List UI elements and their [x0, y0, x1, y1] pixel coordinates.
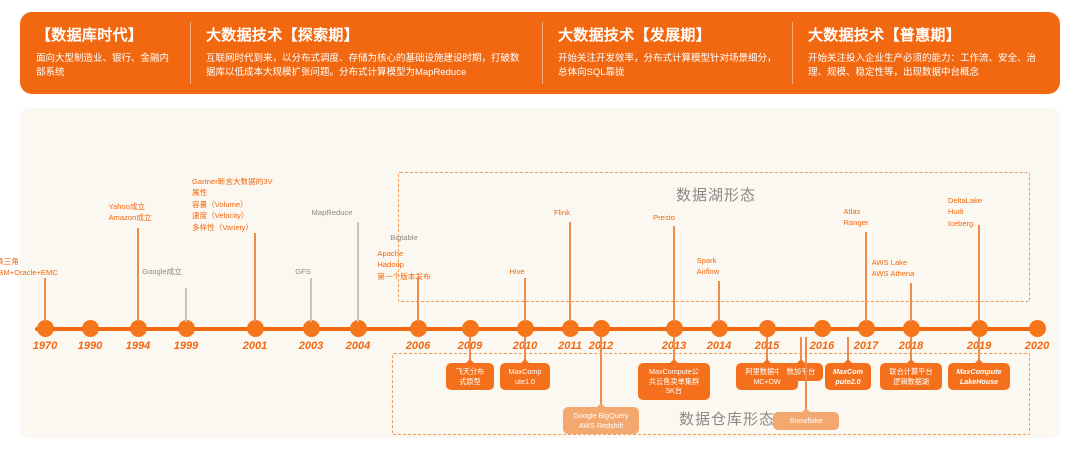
region-title-data-warehouse: 数据仓库形态	[679, 408, 775, 429]
event-stem	[137, 228, 138, 322]
timeline-node-2009[interactable]	[462, 320, 479, 337]
top-event-label: Yahoo成立Amazon成立	[108, 201, 151, 224]
timeline-node-2017[interactable]	[858, 320, 875, 337]
milestone-chip[interactable]: 飞天分布式原型	[446, 363, 494, 390]
year-label-1990: 1990	[78, 340, 102, 352]
year-label-2003: 2003	[299, 340, 323, 352]
milestone-chip[interactable]: 数加平台	[779, 363, 823, 381]
event-stem	[978, 225, 979, 322]
event-stem	[357, 222, 358, 322]
chip-tail-icon	[521, 359, 529, 363]
chip-tail-icon	[670, 359, 678, 363]
chip-line: MaxCompute公	[642, 367, 706, 377]
timeline-node-1994[interactable]	[130, 320, 147, 337]
year-label-2011: 2011	[558, 340, 582, 352]
phase-section-inclusive: 大数据技术【普惠期】 开始关注投入企业生产必须的能力：工作流、安全、治理、规模、…	[792, 12, 1060, 94]
timeline-node-2014[interactable]	[711, 320, 728, 337]
chip-line: Snowflake	[777, 416, 835, 426]
top-event-label: Flink	[554, 207, 570, 218]
timeline-node-2010[interactable]	[517, 320, 534, 337]
event-line: Hadoop	[377, 259, 430, 270]
top-event-label: MapReduce	[312, 207, 353, 218]
event-line: Presto	[653, 212, 675, 223]
milestone-chip[interactable]: MaxComputeLakeHouse	[948, 363, 1010, 390]
year-label-2014: 2014	[707, 340, 731, 352]
top-event-label: 铁三角IBM+Oracle+EMC	[0, 256, 58, 279]
event-line: MapReduce	[312, 207, 353, 218]
event-line: Spark	[697, 255, 720, 266]
year-label-1994: 1994	[126, 340, 150, 352]
phase-section-database-era: 【数据库时代】 面向大型制造业、银行、金融内部系统	[20, 12, 190, 94]
event-line: IBM+Oracle+EMC	[0, 267, 58, 278]
timeline-node-2012[interactable]	[593, 320, 610, 337]
top-event-label: SparkAirflow	[697, 255, 720, 278]
event-line: AWS Athena	[872, 268, 915, 279]
event-stem	[569, 222, 570, 322]
year-label-2017: 2017	[854, 340, 878, 352]
milestone-chip[interactable]: MaxCompute1.0	[500, 363, 550, 390]
event-stem	[865, 232, 866, 322]
chip-line: 5K台	[642, 386, 706, 396]
phase-title: 大数据技术【发展期】	[558, 24, 778, 45]
year-label-2006: 2006	[406, 340, 430, 352]
top-event-label: AtlasRanger	[844, 206, 869, 229]
event-line: AWS Lake	[872, 257, 915, 268]
event-stem	[718, 281, 719, 322]
top-event-label: Gartner断言大数据的3V属性容量（Volume）速度（Velocity）多…	[192, 176, 278, 233]
event-stem	[910, 283, 911, 322]
phase-title: 【数据库时代】	[36, 24, 176, 45]
event-line: Ranger	[844, 217, 869, 228]
year-label-2020: 2020	[1025, 340, 1049, 352]
year-label-2001: 2001	[243, 340, 267, 352]
timeline-node-2011[interactable]	[562, 320, 579, 337]
chip-tail-icon	[466, 359, 474, 363]
chip-tail-icon	[797, 359, 805, 363]
event-line: Iceberg	[948, 218, 982, 229]
timeline-node-2003[interactable]	[303, 320, 320, 337]
timeline-node-2015[interactable]	[759, 320, 776, 337]
phase-description: 互联网时代到来，以分布式调度、存储为核心的基础设施建设时期，打破数据库以低成本大…	[206, 52, 528, 80]
top-event-label: GFS	[295, 266, 311, 277]
year-label-2016: 2016	[810, 340, 834, 352]
chip-line: 飞天分布	[450, 367, 490, 377]
chip-tail-icon	[844, 359, 852, 363]
phase-description: 面向大型制造业、银行、金融内部系统	[36, 52, 176, 80]
event-line: Hudi	[948, 206, 982, 217]
timeline-node-1970[interactable]	[37, 320, 54, 337]
timeline-node-1999[interactable]	[178, 320, 195, 337]
chip-line: 共云售卖单集群	[642, 377, 706, 387]
event-line: Flink	[554, 207, 570, 218]
top-event-label: Hive	[509, 266, 524, 277]
timeline-node-2018[interactable]	[903, 320, 920, 337]
top-event-label: Presto	[653, 212, 675, 223]
event-line: DeltaLake	[948, 195, 982, 206]
infographic-root: 【数据库时代】 面向大型制造业、银行、金融内部系统 大数据技术【探索期】 互联网…	[0, 0, 1080, 454]
chip-line: MaxCom	[829, 367, 867, 377]
event-stem	[673, 226, 674, 322]
top-event-label: DeltaLakeHudiIceberg	[948, 195, 982, 229]
event-line: Airflow	[697, 266, 720, 277]
timeline-node-2016[interactable]	[814, 320, 831, 337]
timeline-node-2004[interactable]	[350, 320, 367, 337]
region-title-data-lake: 数据湖形态	[676, 184, 756, 205]
event-line: Amazon成立	[108, 212, 151, 223]
timeline-node-2013[interactable]	[666, 320, 683, 337]
event-stem	[417, 278, 418, 322]
event-stem	[185, 288, 186, 322]
year-label-1999: 1999	[174, 340, 198, 352]
event-line: Apache	[377, 248, 430, 259]
event-stem	[254, 233, 255, 322]
event-stem	[524, 278, 525, 322]
top-event-label: AWS LakeAWS Athena	[872, 257, 915, 280]
phase-title: 大数据技术【探索期】	[206, 24, 528, 45]
phase-title: 大数据技术【普惠期】	[808, 24, 1046, 45]
phase-description: 开始关注投入企业生产必须的能力：工作流、安全、治理、规模、稳定性等，出现数据中台…	[808, 52, 1046, 80]
event-line: 容量（Volume）	[192, 199, 278, 210]
event-stem	[44, 278, 45, 322]
event-line: Atlas	[844, 206, 869, 217]
milestone-chip[interactable]: MaxCompute2.0	[825, 363, 871, 390]
top-event-label: ApacheHadoop第一个版本发布	[377, 248, 430, 282]
chip-line: 数加平台	[783, 367, 819, 377]
chip-line: MaxCompute	[952, 367, 1006, 377]
chip-line: Google BigQuery	[567, 411, 635, 421]
year-label-1970: 1970	[33, 340, 57, 352]
timeline-node-1990[interactable]	[82, 320, 99, 337]
chip-line: ute1.0	[504, 377, 546, 387]
chip-tail-icon	[907, 359, 915, 363]
event-line: Bigtable	[390, 232, 417, 243]
event-line: 多样性（Variety）	[192, 222, 278, 233]
milestone-chip[interactable]: Snowflake	[773, 412, 839, 430]
event-line: GFS	[295, 266, 311, 277]
event-line: Yahoo成立	[108, 201, 151, 212]
phase-header-bar: 【数据库时代】 面向大型制造业、银行、金融内部系统 大数据技术【探索期】 互联网…	[20, 12, 1060, 94]
chip-line: LakeHouse	[952, 377, 1006, 387]
phase-section-development: 大数据技术【发展期】 开始关注开发效率，分布式计算模型针对场景细分，总体向SQL…	[542, 12, 792, 94]
timeline-node-2001[interactable]	[247, 320, 264, 337]
phase-section-exploration: 大数据技术【探索期】 互联网时代到来，以分布式调度、存储为核心的基础设施建设时期…	[190, 12, 542, 94]
chip-stem	[600, 337, 601, 407]
phase-description: 开始关注开发效率，分布式计算模型针对场景细分，总体向SQL靠拢	[558, 52, 778, 80]
timeline-node-2006[interactable]	[410, 320, 427, 337]
chip-tail-icon	[802, 408, 810, 412]
event-stem	[310, 278, 311, 322]
timeline-node-2019[interactable]	[971, 320, 988, 337]
event-line: 第一个版本发布	[377, 271, 430, 282]
chip-tail-icon	[763, 359, 771, 363]
chip-tail-icon	[597, 403, 605, 407]
top-event-label: Google成立	[142, 266, 182, 277]
milestone-chip[interactable]: 联合计算平台逻辑数据湖	[880, 363, 942, 390]
event-line: Hive	[509, 266, 524, 277]
event-line: Google成立	[142, 266, 182, 277]
chip-line: 式原型	[450, 377, 490, 387]
milestone-chip[interactable]: Google BigQueryAWS Redshift	[563, 407, 639, 434]
chip-tail-icon	[975, 359, 983, 363]
chip-line: MaxComp	[504, 367, 546, 377]
milestone-chip[interactable]: MaxCompute公共云售卖单集群5K台	[638, 363, 710, 400]
year-label-2004: 2004	[346, 340, 370, 352]
top-event-label: Bigtable	[390, 232, 417, 243]
event-line: Gartner断言大数据的3V属性	[192, 176, 278, 199]
chip-stem	[805, 337, 806, 412]
chip-line: 联合计算平台	[884, 367, 938, 377]
timeline-node-2020[interactable]	[1029, 320, 1046, 337]
chip-line: pute2.0	[829, 377, 867, 387]
event-line: 铁三角	[0, 256, 58, 267]
chip-line: 逻辑数据湖	[884, 377, 938, 387]
event-line: 速度（Velocity）	[192, 210, 278, 221]
chip-line: AWS Redshift	[567, 421, 635, 431]
